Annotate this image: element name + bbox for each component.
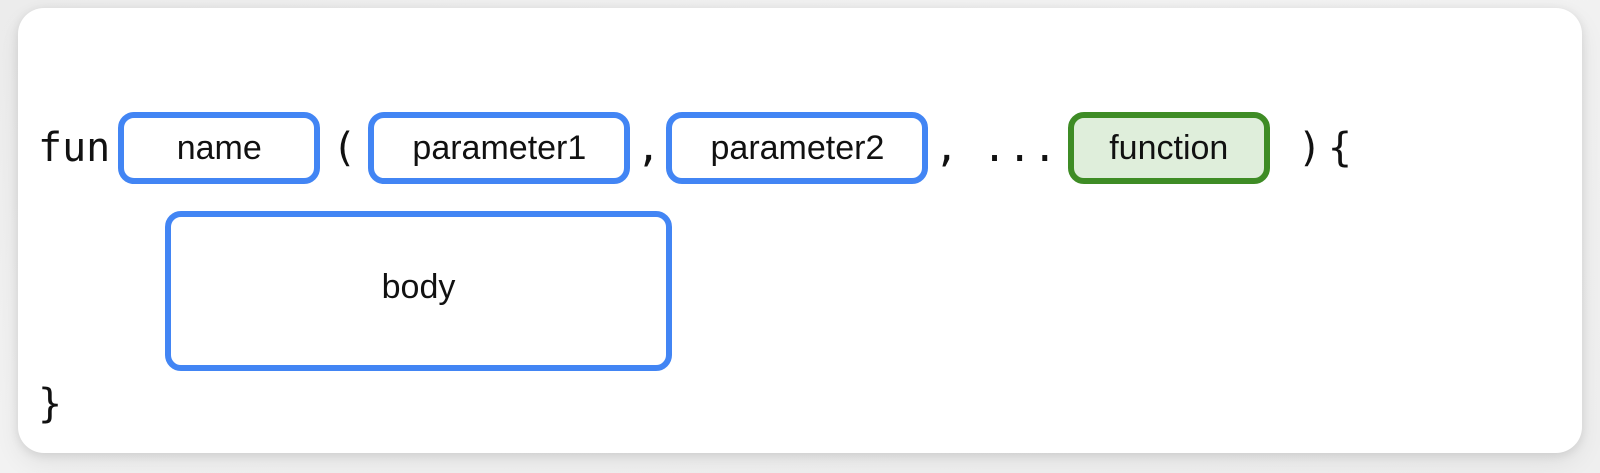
slot-function-body-label: body	[382, 268, 456, 307]
paren-open: (	[332, 128, 356, 168]
comma-separator-1: ,	[636, 128, 660, 168]
slot-function-name-label: name	[177, 129, 262, 168]
slot-function-parameter[interactable]: function	[1068, 112, 1270, 184]
function-signature-row: fun name ( parameter1 , parameter2 , ...…	[18, 104, 1358, 192]
slot-function-body[interactable]: body	[165, 211, 672, 371]
slot-parameter1-label: parameter1	[412, 129, 586, 168]
brace-open: {	[1328, 128, 1352, 168]
slot-parameter1[interactable]: parameter1	[368, 112, 630, 184]
slot-parameter2[interactable]: parameter2	[666, 112, 928, 184]
slot-function-name[interactable]: name	[118, 112, 320, 184]
keyword-fun: fun	[38, 128, 110, 168]
slot-function-parameter-label: function	[1109, 129, 1228, 168]
comma-separator-2: ,	[934, 128, 958, 168]
syntax-diagram-card: fun name ( parameter1 , parameter2 , ...…	[18, 8, 1582, 453]
slot-parameter2-label: parameter2	[711, 129, 885, 168]
brace-close: }	[38, 384, 62, 424]
ellipsis-more-parameters: ...	[983, 128, 1058, 168]
paren-close: )	[1298, 128, 1322, 168]
